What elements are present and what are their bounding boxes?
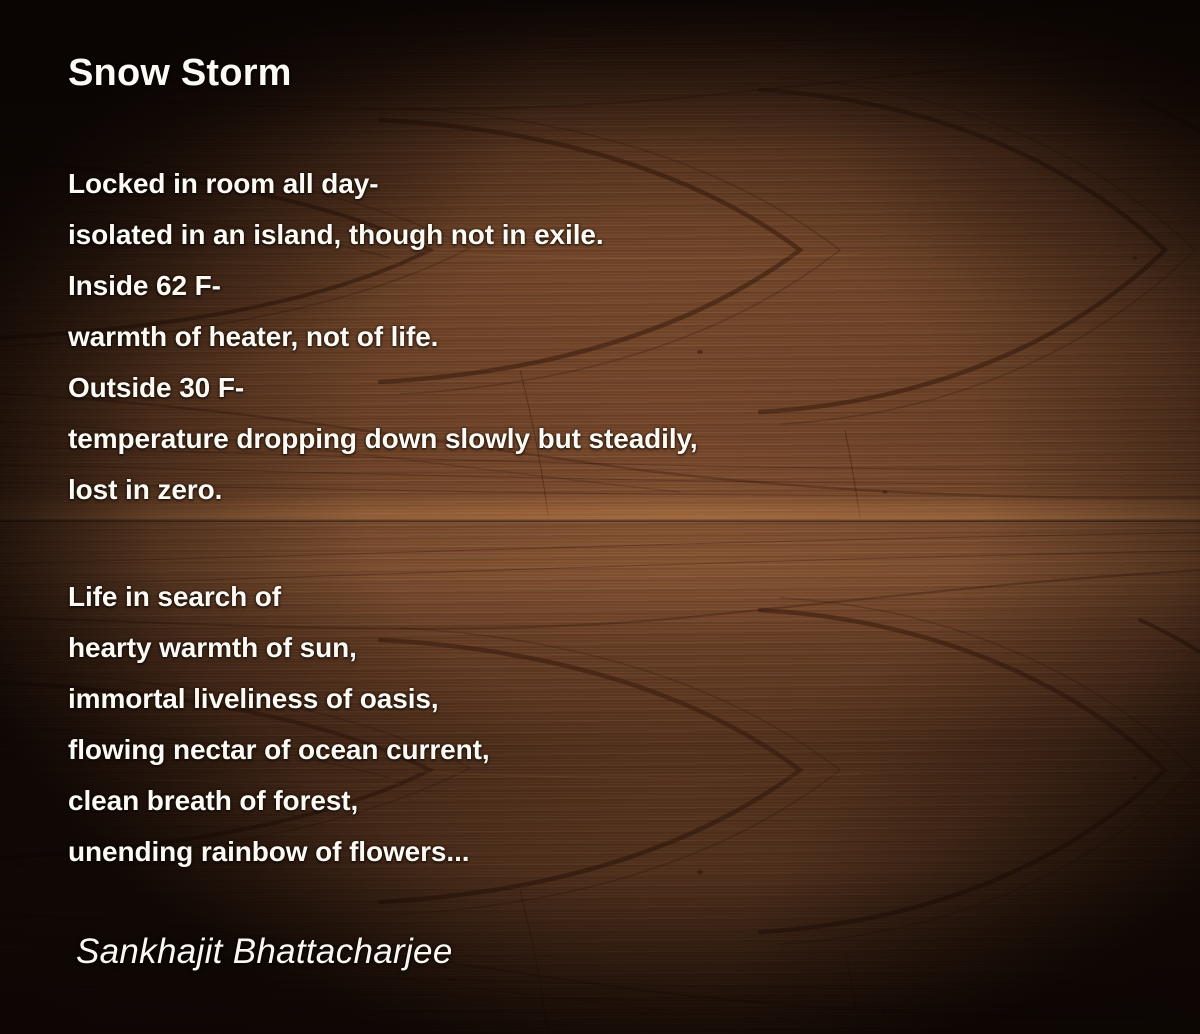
poem-line: warmth of heater, not of life. [68, 311, 698, 362]
poem-line: temperature dropping down slowly but ste… [68, 413, 698, 464]
poem-line: hearty warmth of sun, [68, 622, 490, 673]
poem-line: flowing nectar of ocean current, [68, 724, 490, 775]
poem-author-signature: Sankhajit Bhattacharjee [76, 932, 453, 972]
poem-line: Outside 30 F- [68, 362, 698, 413]
poem-title: Snow Storm [68, 52, 292, 95]
poem-poster: Snow Storm Locked in room all day- isola… [0, 0, 1200, 1034]
poem-line: immortal liveliness of oasis, [68, 673, 490, 724]
poem-stanza-2: Life in search of hearty warmth of sun, … [68, 571, 490, 877]
poem-line: Life in search of [68, 571, 490, 622]
poem-line: Inside 62 F- [68, 260, 698, 311]
poem-line: Locked in room all day- [68, 158, 698, 209]
poem-content: Snow Storm Locked in room all day- isola… [0, 0, 1200, 1034]
poem-line: isolated in an island, though not in exi… [68, 209, 698, 260]
poem-line: clean breath of forest, [68, 775, 490, 826]
poem-stanza-1: Locked in room all day- isolated in an i… [68, 158, 698, 515]
poem-line: unending rainbow of flowers... [68, 826, 490, 877]
poem-line: lost in zero. [68, 464, 698, 515]
